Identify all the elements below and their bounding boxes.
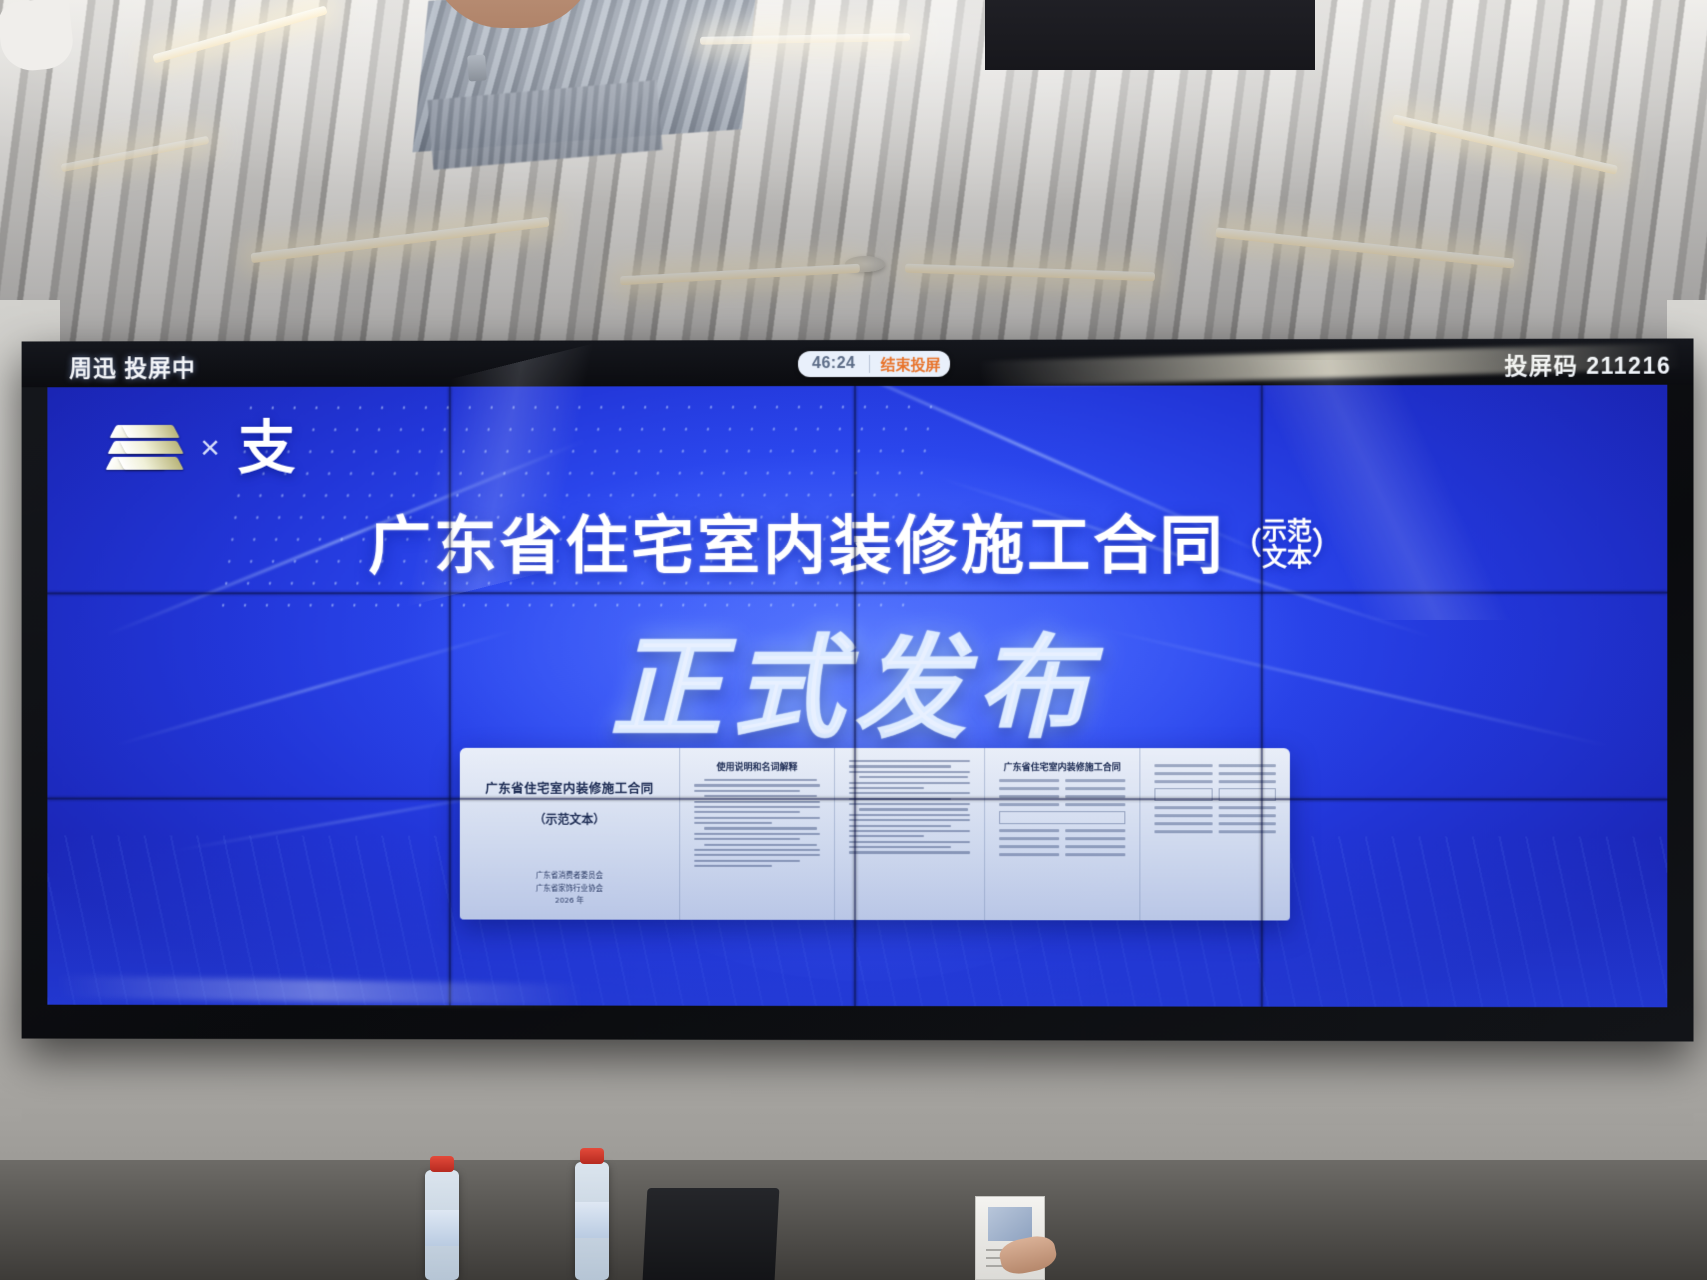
document-page-cover: 广东省住宅室内装修施工合同 （示范文本） 广东省消费者委员会 广东省家饰行业协会… <box>460 748 679 920</box>
brand-lockup: × 支 <box>109 419 296 477</box>
doc-cover-title: 广东省住宅室内装修施工合同 <box>470 778 669 797</box>
panel-seam <box>449 387 451 1006</box>
doc-text-lines <box>845 760 974 854</box>
attendee-right <box>0 0 72 70</box>
doc-text-lines <box>690 779 824 867</box>
doc-footer-line-3: 2026 年 <box>460 895 679 908</box>
partner-logo-text: 支 <box>238 419 296 477</box>
cast-timer-pill[interactable]: 46:24 结束投屏 <box>798 351 950 377</box>
paren-open: （ <box>1232 529 1262 559</box>
cast-timer-value: 46:24 <box>798 355 869 373</box>
doc-page-heading: 使用说明和名词解释 <box>690 760 824 773</box>
ceiling-shading <box>0 0 1707 352</box>
laptop <box>643 1188 780 1280</box>
dot-pattern <box>211 396 940 616</box>
document-page-contract-form: 广东省住宅室内装修施工合同 <box>984 748 1139 920</box>
photo-scene: 周迅 投屏中 46:24 结束投屏 投屏码 211216 <box>0 0 1707 1280</box>
face-mask <box>0 0 75 74</box>
gold-layered-logo-icon <box>109 421 182 475</box>
headline-parenthetical: （ 示范 文本 ） <box>1232 518 1342 571</box>
caster-name-label: 周迅 投屏中 <box>69 349 195 383</box>
doc-cover-subtitle: （示范文本） <box>470 811 669 828</box>
conference-desk <box>0 1160 1707 1280</box>
bottle-cap <box>430 1156 454 1172</box>
bottle-cap <box>580 1148 604 1164</box>
document-page-instructions: 使用说明和名词解释 <box>679 748 834 920</box>
slide-headline: 广东省住宅室内装修施工合同 （ 示范 文本 ） <box>47 513 1667 577</box>
doc-footer-line-1: 广东省消费者委员会 <box>460 869 679 882</box>
slide-canvas: × 支 广东省住宅室内装修施工合同 （ 示范 文本 ） 正式发布 <box>47 385 1667 1008</box>
doc-footer-line-2: 广东省家饰行业协会 <box>460 882 679 895</box>
bottle-label <box>425 1210 459 1246</box>
torso <box>985 0 1315 70</box>
doc-cover-footer: 广东省消费者委员会 广东省家饰行业协会 2026 年 <box>460 869 679 907</box>
ceiling <box>0 0 1707 352</box>
bottle-label <box>575 1202 609 1238</box>
video-wall: 周迅 投屏中 46:24 结束投屏 投屏码 211216 <box>22 339 1694 1042</box>
doc-page-heading: 广东省住宅室内装修施工合同 <box>995 760 1129 773</box>
water-bottle <box>575 1162 609 1280</box>
document-preview-strip: 广东省住宅室内装修施工合同 （示范文本） 广东省消费者委员会 广东省家饰行业协会… <box>460 748 1290 921</box>
slide-slogan: 正式发布 <box>47 598 1667 761</box>
headline-main-text: 广东省住宅室内装修施工合同 <box>368 514 1225 578</box>
end-cast-button[interactable]: 结束投屏 <box>870 353 950 374</box>
paren-line-1: 示范 <box>1262 518 1312 544</box>
paren-line-2: 文本 <box>1262 544 1312 570</box>
cross-symbol-icon: × <box>200 428 220 467</box>
panel-seam <box>1261 385 1263 1006</box>
panel-seam <box>854 386 856 1006</box>
doc-form-rows <box>995 779 1129 856</box>
paper-image <box>988 1207 1032 1241</box>
paren-close: ） <box>1312 529 1342 559</box>
document-page-appendix <box>1139 748 1290 920</box>
document-page-terms <box>834 748 984 920</box>
water-bottle <box>425 1170 459 1280</box>
